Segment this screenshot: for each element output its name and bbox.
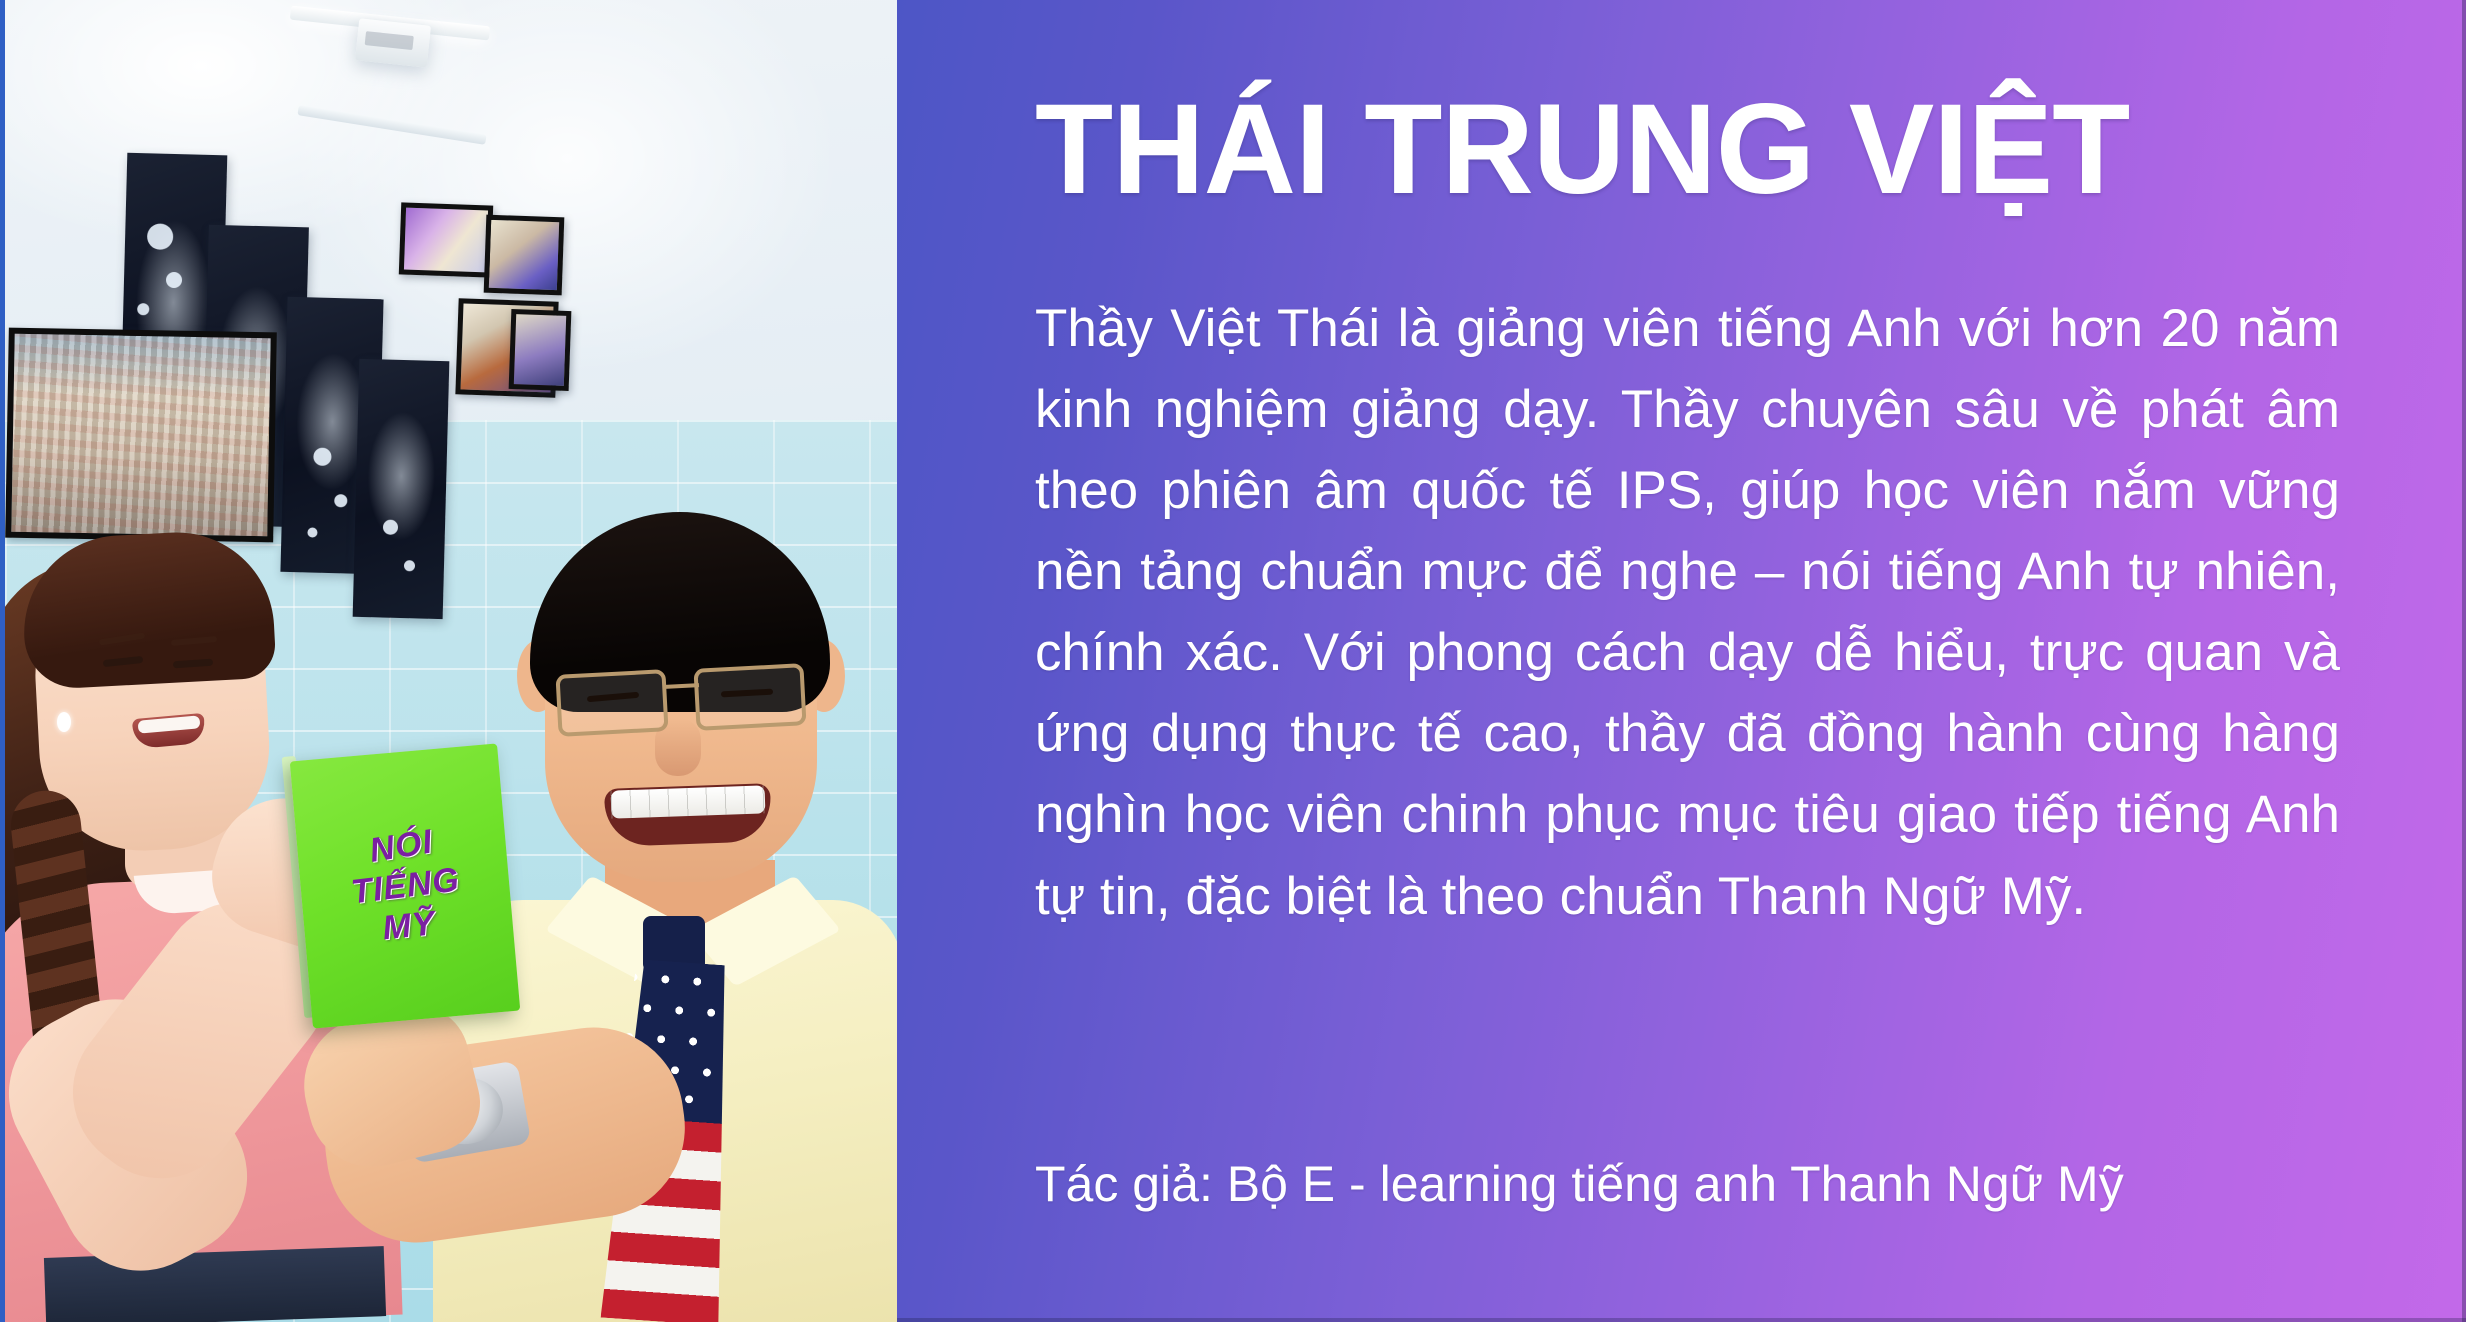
instructor-info-panel: THÁI TRUNG VIỆT Thầy Việt Thái là giảng …: [897, 0, 2466, 1322]
wall-photo-collage: [5, 328, 277, 543]
wall-photo-frame-1: [399, 202, 493, 277]
wall-art-panel-4: [353, 359, 450, 619]
info-content: THÁI TRUNG VIỆT Thầy Việt Thái là giảng …: [1035, 0, 2340, 1322]
panel-right-edge: [2462, 0, 2466, 1322]
instructor-nose: [655, 718, 701, 776]
instructor-photo: NÓI TIẾNG MỸ: [0, 0, 897, 1322]
instructor-teeth: [611, 785, 766, 818]
instructor-glasses-right-lens: [693, 663, 806, 731]
wall-photo-frame-2: [484, 215, 565, 296]
instructor-name-heading: THÁI TRUNG VIỆT: [1035, 82, 2129, 218]
student-jeans: [44, 1246, 386, 1322]
instructor-glasses-left-lens: [555, 669, 668, 737]
instructor-bio-paragraph: Thầy Việt Thái là giảng viên tiếng Anh v…: [1035, 288, 2340, 937]
wall-photo-frame-4: [509, 309, 572, 391]
author-credit: Tác giả: Bộ E - learning tiếng anh Thanh…: [1035, 1152, 2124, 1217]
slide-root: NÓI TIẾNG MỸ THÁI TRUNG VIỆT Thầy Việt T…: [0, 0, 2466, 1322]
book-cover: [290, 743, 521, 1028]
ceiling-light-fixture: [355, 18, 431, 67]
panel-bottom-edge: [897, 1318, 2466, 1322]
student-earring: [57, 712, 71, 732]
